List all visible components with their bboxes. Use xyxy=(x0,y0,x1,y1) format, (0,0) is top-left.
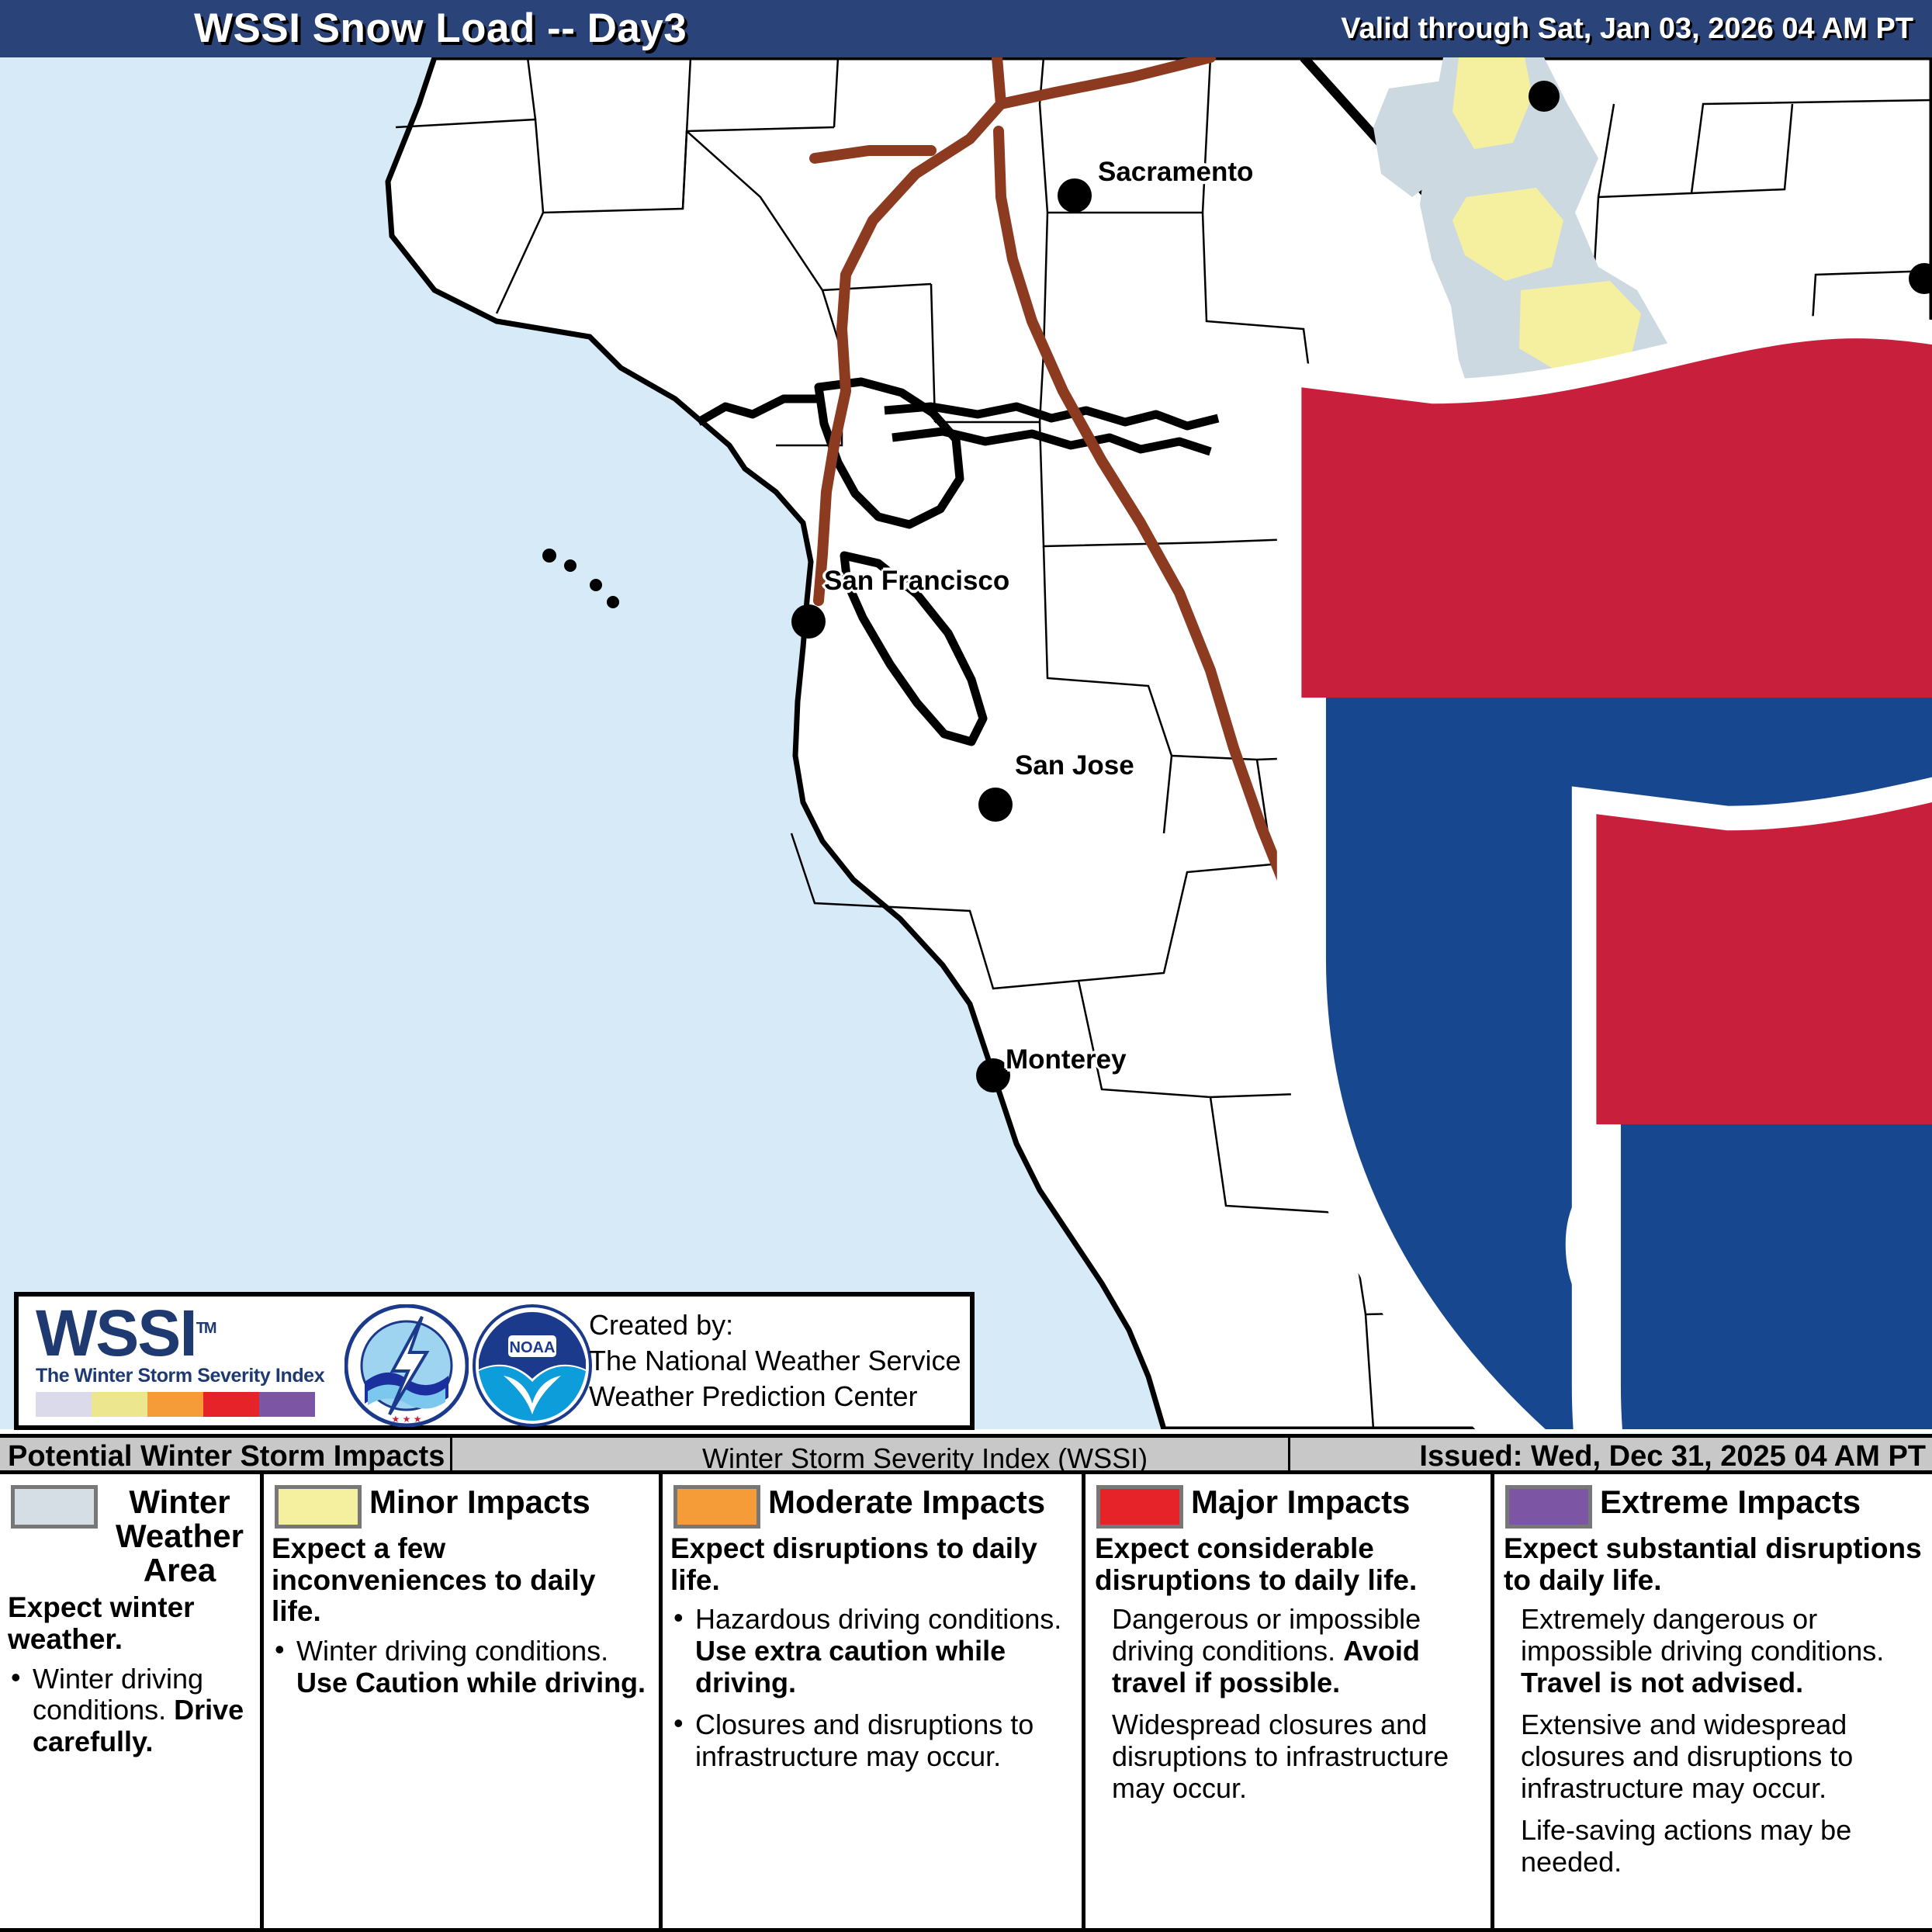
list-item: Widespread closures and disruptions to i… xyxy=(1095,1709,1484,1804)
svg-text:★ ★ ★: ★ ★ ★ xyxy=(392,1414,422,1425)
legend-header-major: Major Impacts xyxy=(1085,1474,1491,1529)
legend-title-minor: Minor Impacts xyxy=(369,1485,653,1519)
map-canvas[interactable]: Sacramento San Francisco San Jose Fresno… xyxy=(0,57,1932,1429)
legend-bullets-extreme: Extremely dangerous or impossible drivin… xyxy=(1494,1604,1932,1878)
legend-column-minor-impacts[interactable]: Minor Impacts Expect a few inconvenience… xyxy=(264,1474,663,1928)
legend-summary-minor: Expect a few inconveniences to daily lif… xyxy=(264,1529,659,1628)
wssi-logo: WSSITM The Winter Storm Severity Index xyxy=(36,1304,338,1427)
wssi-color-bar xyxy=(36,1392,315,1417)
legend-header-extreme: Extreme Impacts xyxy=(1494,1474,1932,1529)
legend-column-extreme-impacts[interactable]: Extreme Impacts Expect substantial disru… xyxy=(1494,1474,1932,1928)
list-item: Winter driving conditions. Use Caution w… xyxy=(273,1636,653,1698)
status-issued: Issued: Wed, Dec 31, 2025 04 AM PT xyxy=(1419,1440,1926,1473)
noaa-seal-icon: NOAA xyxy=(473,1304,593,1431)
legend-title-moderate: Moderate Impacts xyxy=(768,1485,1075,1519)
status-bar: Potential Winter Storm Impacts Winter St… xyxy=(0,1434,1932,1474)
interstate-shield-5: 5 xyxy=(1186,732,1241,798)
status-potential-impacts: Potential Winter Storm Impacts xyxy=(8,1440,445,1473)
wssi-subtitle: The Winter Storm Severity Index xyxy=(36,1365,338,1387)
created-by-line-2: The National Weather Service xyxy=(589,1343,961,1379)
legend-summary-major: Expect considerable disruptions to daily… xyxy=(1085,1529,1491,1596)
legend-title-winter: WinterWeatherArea xyxy=(106,1485,254,1587)
color-swatch-minor xyxy=(92,1392,147,1417)
impact-legend: WinterWeatherArea Expect winter weather.… xyxy=(0,1474,1932,1932)
city-dot-north xyxy=(1529,81,1560,112)
legend-bullets-minor: Winter driving conditions. Use Caution w… xyxy=(264,1636,659,1698)
created-by-line-3: Weather Prediction Center xyxy=(589,1379,961,1414)
color-swatch-moderate xyxy=(147,1392,203,1417)
wssi-logo-box: WSSITM The Winter Storm Severity Index ★… xyxy=(14,1292,975,1430)
valid-through-text: Valid through Sat, Jan 03, 2026 04 AM PT xyxy=(1341,12,1913,46)
nws-seal-icon: ★ ★ ★ xyxy=(345,1304,469,1431)
city-dot-sacramento xyxy=(1058,178,1092,213)
color-swatch-extreme xyxy=(259,1392,315,1417)
legend-summary-moderate: Expect disruptions to daily life. xyxy=(663,1529,1082,1596)
legend-title-extreme: Extreme Impacts xyxy=(1600,1485,1926,1519)
legend-title-major: Major Impacts xyxy=(1191,1485,1484,1519)
status-wssi-name: Winter Storm Severity Index (WSSI) xyxy=(702,1442,1148,1475)
list-item: Winter driving conditions. Drive careful… xyxy=(9,1664,254,1758)
color-swatch-winter xyxy=(36,1392,92,1417)
page-title: WSSI Snow Load -- Day3 xyxy=(194,5,687,52)
legend-swatch-minor xyxy=(275,1485,362,1529)
legend-summary-winter: Expect winter weather. xyxy=(0,1587,260,1655)
legend-header-minor: Minor Impacts xyxy=(264,1474,659,1529)
legend-swatch-major xyxy=(1096,1485,1183,1529)
list-item: Hazardous driving conditions. Use extra … xyxy=(672,1604,1075,1698)
legend-bullets-moderate: Hazardous driving conditions. Use extra … xyxy=(663,1604,1082,1772)
wssi-map-page: WSSI Snow Load -- Day3 Valid through Sat… xyxy=(0,0,1932,1932)
status-divider-2 xyxy=(1288,1438,1290,1470)
color-swatch-major xyxy=(203,1392,259,1417)
legend-bullets-winter: Winter driving conditions. Drive careful… xyxy=(0,1664,260,1758)
trademark-mark: TM xyxy=(196,1320,216,1337)
interstate-shield-80: 80 xyxy=(891,306,947,371)
legend-swatch-winter xyxy=(11,1485,98,1529)
legend-header-moderate: Moderate Impacts xyxy=(663,1474,1082,1529)
wssi-wordmark: WSSITM xyxy=(36,1304,338,1363)
list-item: Closures and disruptions to infrastructu… xyxy=(672,1709,1075,1772)
legend-summary-extreme: Expect substantial disruptions to daily … xyxy=(1494,1529,1932,1596)
legend-column-major-impacts[interactable]: Major Impacts Expect considerable disrup… xyxy=(1085,1474,1494,1928)
city-label-sacramento: Sacramento xyxy=(1098,157,1253,188)
legend-column-winter-weather-area[interactable]: WinterWeatherArea Expect winter weather.… xyxy=(0,1474,264,1928)
page-header: WSSI Snow Load -- Day3 Valid through Sat… xyxy=(0,0,1932,57)
legend-column-moderate-impacts[interactable]: Moderate Impacts Expect disruptions to d… xyxy=(663,1474,1085,1928)
svg-text:NOAA: NOAA xyxy=(510,1339,556,1356)
created-by-line-1: Created by: xyxy=(589,1307,961,1343)
list-item: Life-saving actions may be needed. xyxy=(1504,1815,1926,1878)
status-divider-1 xyxy=(450,1438,452,1470)
legend-bullets-major: Dangerous or impossible driving conditio… xyxy=(1085,1604,1491,1804)
city-dot-san-francisco xyxy=(791,604,826,639)
legend-header-winter: WinterWeatherArea xyxy=(0,1474,260,1587)
list-item: Dangerous or impossible driving conditio… xyxy=(1095,1604,1484,1698)
created-by-block: Created by: The National Weather Service… xyxy=(589,1307,961,1414)
list-item: Extremely dangerous or impossible drivin… xyxy=(1504,1604,1926,1698)
list-item: Extensive and widespread closures and di… xyxy=(1504,1709,1926,1804)
legend-swatch-extreme xyxy=(1505,1485,1592,1529)
legend-swatch-moderate xyxy=(673,1485,760,1529)
